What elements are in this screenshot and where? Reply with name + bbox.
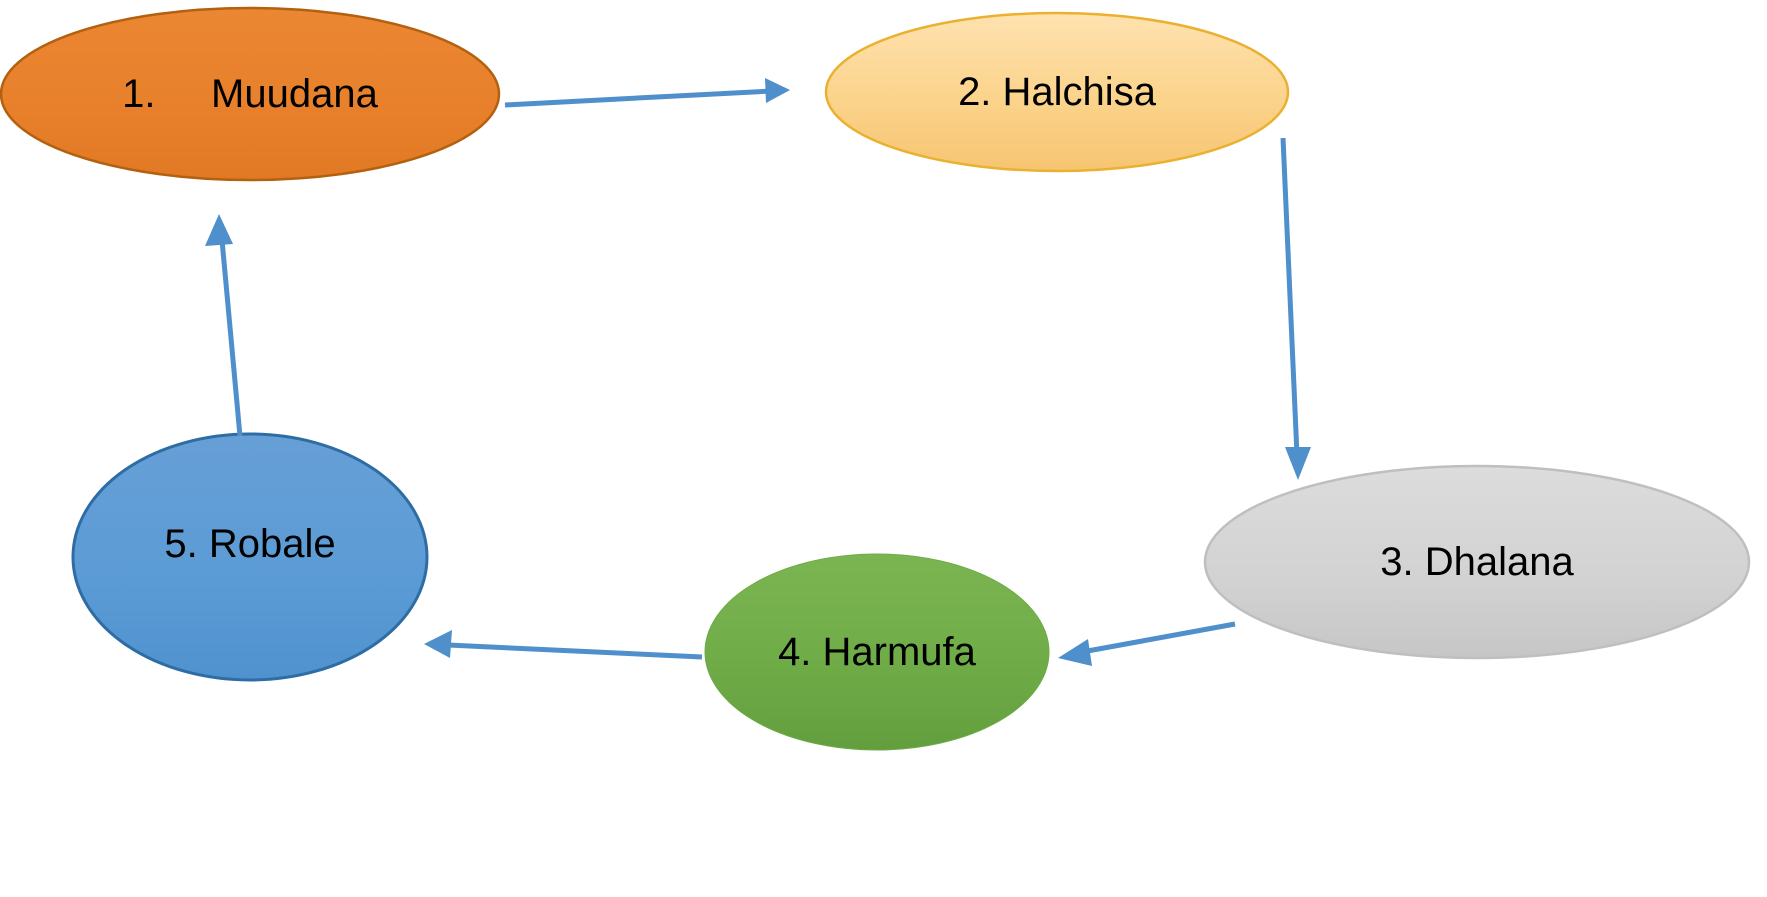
arrow-halchisa-to-dhalana [1283,138,1311,480]
node-ellipse-dhalana[interactable] [1205,466,1749,658]
node-ellipse-halchisa[interactable] [826,13,1288,171]
diagram-svg [0,0,1767,897]
arrow-robale-to-muudana [205,214,240,436]
arrow-muudana-to-halchisa [505,78,790,105]
diagram-canvas: 1. Muudana 2. Halchisa 3. Dhalana 4. Har… [0,0,1767,897]
node-ellipse-muudana[interactable] [1,8,499,180]
arrow-dhalana-to-harmufa [1058,624,1235,666]
node-ellipse-robale[interactable] [73,434,427,680]
node-ellipse-harmufa[interactable] [705,554,1049,750]
arrow-harmufa-to-robale [424,630,702,658]
